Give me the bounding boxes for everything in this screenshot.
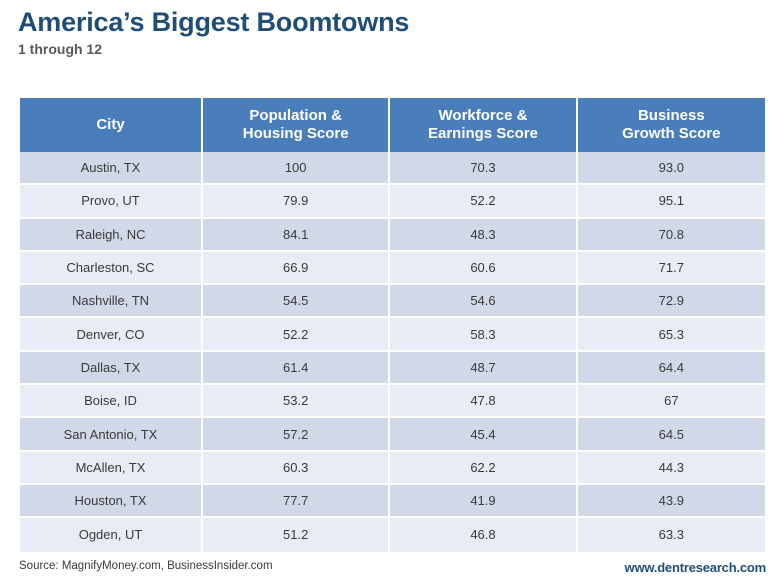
- infographic-page: America’s Biggest Boomtowns 1 through 12…: [0, 0, 780, 586]
- cell-business-growth: 72.9: [578, 285, 765, 318]
- cell-city: Nashville, TN: [20, 285, 203, 318]
- cell-business-growth: 95.1: [578, 185, 765, 218]
- column-header-workforce-earnings: Workforce & Earnings Score: [390, 98, 577, 152]
- cell-population-housing: 100: [203, 152, 390, 185]
- cell-city: Dallas, TX: [20, 352, 203, 385]
- cell-population-housing: 53.2: [203, 385, 390, 418]
- table-body: Austin, TX10070.393.0Provo, UT79.952.295…: [20, 152, 765, 552]
- cell-business-growth: 43.9: [578, 485, 765, 518]
- cell-population-housing: 60.3: [203, 452, 390, 485]
- cell-city: Raleigh, NC: [20, 219, 203, 252]
- cell-city: San Antonio, TX: [20, 418, 203, 451]
- table-row: Boise, ID53.247.867: [20, 385, 765, 418]
- cell-workforce-earnings: 48.7: [390, 352, 577, 385]
- boomtowns-table-container: City Population & Housing Score Workforc…: [20, 98, 765, 552]
- cell-business-growth: 70.8: [578, 219, 765, 252]
- table-row: Charleston, SC66.960.671.7: [20, 252, 765, 285]
- cell-workforce-earnings: 58.3: [390, 318, 577, 351]
- cell-workforce-earnings: 41.9: [390, 485, 577, 518]
- table-header-row: City Population & Housing Score Workforc…: [20, 98, 765, 152]
- column-header-business-growth-line2: Growth Score: [584, 125, 759, 143]
- page-title: America’s Biggest Boomtowns: [18, 6, 409, 38]
- boomtowns-table: City Population & Housing Score Workforc…: [20, 98, 765, 552]
- cell-workforce-earnings: 47.8: [390, 385, 577, 418]
- title-block: America’s Biggest Boomtowns 1 through 12: [18, 6, 409, 58]
- column-header-business-growth: Business Growth Score: [578, 98, 765, 152]
- column-header-workforce-earnings-line2: Earnings Score: [396, 125, 569, 143]
- cell-city: Austin, TX: [20, 152, 203, 185]
- cell-workforce-earnings: 46.8: [390, 518, 577, 551]
- cell-business-growth: 93.0: [578, 152, 765, 185]
- cell-business-growth: 71.7: [578, 252, 765, 285]
- cell-city: Charleston, SC: [20, 252, 203, 285]
- cell-city: Denver, CO: [20, 318, 203, 351]
- cell-workforce-earnings: 62.2: [390, 452, 577, 485]
- cell-city: Provo, UT: [20, 185, 203, 218]
- cell-population-housing: 54.5: [203, 285, 390, 318]
- column-header-city: City: [20, 98, 203, 152]
- cell-workforce-earnings: 54.6: [390, 285, 577, 318]
- column-header-workforce-earnings-line1: Workforce &: [396, 107, 569, 125]
- cell-business-growth: 64.4: [578, 352, 765, 385]
- cell-workforce-earnings: 70.3: [390, 152, 577, 185]
- table-row: San Antonio, TX57.245.464.5: [20, 418, 765, 451]
- cell-workforce-earnings: 60.6: [390, 252, 577, 285]
- cell-population-housing: 79.9: [203, 185, 390, 218]
- cell-population-housing: 84.1: [203, 219, 390, 252]
- footer: Source: MagnifyMoney.com, BusinessInside…: [0, 560, 780, 580]
- cell-business-growth: 44.3: [578, 452, 765, 485]
- table-header: City Population & Housing Score Workforc…: [20, 98, 765, 152]
- table-row: Denver, CO52.258.365.3: [20, 318, 765, 351]
- cell-business-growth: 63.3: [578, 518, 765, 551]
- cell-population-housing: 51.2: [203, 518, 390, 551]
- table-row: Houston, TX77.741.943.9: [20, 485, 765, 518]
- website-link[interactable]: www.dentresearch.com: [625, 560, 766, 575]
- cell-workforce-earnings: 48.3: [390, 219, 577, 252]
- cell-population-housing: 77.7: [203, 485, 390, 518]
- cell-business-growth: 64.5: [578, 418, 765, 451]
- column-header-city-line1: City: [26, 116, 195, 134]
- cell-business-growth: 67: [578, 385, 765, 418]
- table-row: Provo, UT79.952.295.1: [20, 185, 765, 218]
- cell-city: McAllen, TX: [20, 452, 203, 485]
- cell-workforce-earnings: 45.4: [390, 418, 577, 451]
- table-row: Dallas, TX61.448.764.4: [20, 352, 765, 385]
- column-header-population-housing-line1: Population &: [209, 107, 382, 125]
- source-note: Source: MagnifyMoney.com, BusinessInside…: [19, 560, 273, 572]
- cell-city: Ogden, UT: [20, 518, 203, 551]
- column-header-population-housing-line2: Housing Score: [209, 125, 382, 143]
- table-row: Ogden, UT51.246.863.3: [20, 518, 765, 551]
- cell-population-housing: 66.9: [203, 252, 390, 285]
- cell-business-growth: 65.3: [578, 318, 765, 351]
- table-row: Raleigh, NC84.148.370.8: [20, 219, 765, 252]
- cell-city: Boise, ID: [20, 385, 203, 418]
- cell-city: Houston, TX: [20, 485, 203, 518]
- cell-population-housing: 52.2: [203, 318, 390, 351]
- column-header-business-growth-line1: Business: [584, 107, 759, 125]
- column-header-population-housing: Population & Housing Score: [203, 98, 390, 152]
- page-subtitle: 1 through 12: [18, 40, 409, 58]
- table-row: McAllen, TX60.362.244.3: [20, 452, 765, 485]
- cell-population-housing: 57.2: [203, 418, 390, 451]
- table-row: Austin, TX10070.393.0: [20, 152, 765, 185]
- cell-population-housing: 61.4: [203, 352, 390, 385]
- cell-workforce-earnings: 52.2: [390, 185, 577, 218]
- table-row: Nashville, TN54.554.672.9: [20, 285, 765, 318]
